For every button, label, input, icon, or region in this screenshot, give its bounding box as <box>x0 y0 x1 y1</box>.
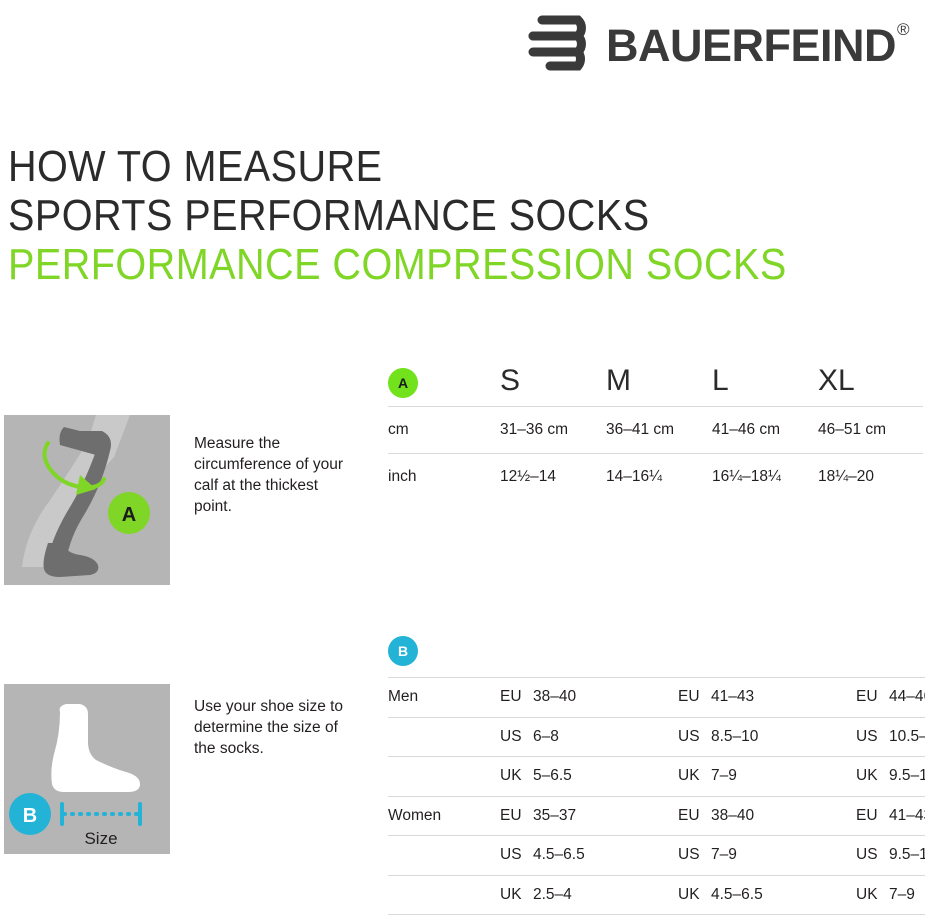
table-a-header-row: A S M L XL <box>388 360 923 407</box>
table-b-badge-row: B <box>388 625 925 678</box>
men-eu-label-3: EU <box>856 678 889 718</box>
men-eu-label-1: EU <box>500 678 533 718</box>
table-row: Women EU 35–37 EU 38–40 EU 41–43 <box>388 796 925 836</box>
women-eu-label-1: EU <box>500 796 533 836</box>
men-uk-label-2: UK <box>678 757 711 797</box>
shoe-size-table-block: B Men EU 38–40 EU 41–43 EU 44–46 US 6–8 … <box>388 625 923 915</box>
women-us-value-1: 4.5–6.5 <box>533 836 678 876</box>
registered-trademark-icon: ® <box>897 20 909 39</box>
illustration-foot-with-size-ruler: B Size <box>4 684 170 854</box>
calf-circumference-table-block: A S M L XL cm 31–36 cm 36–41 cm 41–46 cm… <box>388 360 923 500</box>
women-eu-value-2: 38–40 <box>711 796 856 836</box>
table-a-inch-s: 12½–14 <box>500 454 606 501</box>
shoe-size-table: B Men EU 38–40 EU 41–43 EU 44–46 US 6–8 … <box>388 625 925 915</box>
women-uk-label-2: UK <box>678 875 711 915</box>
men-eu-value-3: 44–46 <box>889 678 925 718</box>
men-us-value-3: 10.5–12 <box>889 717 925 757</box>
table-a-inch-m: 14–16¼ <box>606 454 712 501</box>
table-b-spacer <box>388 757 500 797</box>
table-b-spacer <box>388 717 500 757</box>
women-us-value-3: 9.5–11 <box>889 836 925 876</box>
table-a-cm-m: 36–41 cm <box>606 407 712 454</box>
women-uk-label-1: UK <box>500 875 533 915</box>
table-a-unit-inch: inch <box>388 454 500 501</box>
headline-line-1: HOW TO MEASURE <box>8 142 728 191</box>
table-b-group-women: Women <box>388 796 500 836</box>
men-eu-value-1: 38–40 <box>533 678 678 718</box>
women-us-value-2: 7–9 <box>711 836 856 876</box>
table-row: cm 31–36 cm 36–41 cm 41–46 cm 46–51 cm <box>388 407 923 454</box>
table-a-cm-s: 31–36 cm <box>500 407 606 454</box>
headline-line-2: SPORTS PERFORMANCE SOCKS <box>8 191 728 240</box>
table-row: inch 12½–14 14–16¼ 16¼–18¼ 18¼–20 <box>388 454 923 501</box>
women-eu-value-3: 41–43 <box>889 796 925 836</box>
badge-b: B <box>388 636 418 666</box>
table-a-cm-l: 41–46 cm <box>712 407 818 454</box>
svg-text:A: A <box>122 504 136 526</box>
women-eu-label-2: EU <box>678 796 711 836</box>
table-row: UK 2.5–4 UK 4.5–6.5 UK 7–9 <box>388 875 925 915</box>
women-eu-value-1: 35–37 <box>533 796 678 836</box>
table-b-spacer <box>388 836 500 876</box>
table-a-inch-xl: 18¼–20 <box>818 454 923 501</box>
women-uk-label-3: UK <box>856 875 889 915</box>
table-a-size-m: M <box>606 360 712 407</box>
table-a-badge-cell: A <box>388 360 500 407</box>
table-row: UK 5–6.5 UK 7–9 UK 9.5–11.5 <box>388 757 925 797</box>
women-uk-value-3: 7–9 <box>889 875 925 915</box>
table-row: US 6–8 US 8.5–10 US 10.5–12 <box>388 717 925 757</box>
women-us-label-1: US <box>500 836 533 876</box>
table-b-badge-cell: B <box>388 625 925 678</box>
step-b-description: Use your shoe size to determine the size… <box>194 696 359 759</box>
women-uk-value-2: 4.5–6.5 <box>711 875 856 915</box>
table-a-unit-cm: cm <box>388 407 500 454</box>
badge-a: A <box>388 368 418 398</box>
page-title: HOW TO MEASURE SPORTS PERFORMANCE SOCKS … <box>8 142 808 289</box>
table-a-size-s: S <box>500 360 606 407</box>
men-uk-value-3: 9.5–11.5 <box>889 757 925 797</box>
men-uk-value-2: 7–9 <box>711 757 856 797</box>
men-us-value-2: 8.5–10 <box>711 717 856 757</box>
table-a-inch-l: 16¼–18¼ <box>712 454 818 501</box>
brand-wordmark: BAUERFEIND <box>606 20 896 71</box>
men-us-value-1: 6–8 <box>533 717 678 757</box>
svg-text:B: B <box>23 805 37 827</box>
men-us-label-2: US <box>678 717 711 757</box>
svg-text:Size: Size <box>84 829 117 848</box>
step-a-description: Measure the circumference of your calf a… <box>194 433 359 517</box>
men-uk-label-1: UK <box>500 757 533 797</box>
brand-name: BAUERFEIND® <box>606 23 908 68</box>
women-us-label-2: US <box>678 836 711 876</box>
table-b-spacer <box>388 875 500 915</box>
illustration-leg-with-compression-sock: A <box>4 415 170 585</box>
table-row: US 4.5–6.5 US 7–9 US 9.5–11 <box>388 836 925 876</box>
men-eu-label-2: EU <box>678 678 711 718</box>
table-row: Men EU 38–40 EU 41–43 EU 44–46 <box>388 678 925 718</box>
men-uk-value-1: 5–6.5 <box>533 757 678 797</box>
brand-logo: BAUERFEIND® <box>528 12 920 74</box>
women-uk-value-1: 2.5–4 <box>533 875 678 915</box>
men-us-label-1: US <box>500 717 533 757</box>
women-eu-label-3: EU <box>856 796 889 836</box>
men-uk-label-3: UK <box>856 757 889 797</box>
women-us-label-3: US <box>856 836 889 876</box>
men-us-label-3: US <box>856 717 889 757</box>
table-b-group-men: Men <box>388 678 500 718</box>
headline-line-3: PERFORMANCE COMPRESSION SOCKS <box>8 240 728 289</box>
calf-circumference-table: A S M L XL cm 31–36 cm 36–41 cm 41–46 cm… <box>388 360 923 500</box>
bauerfeind-b-mark-icon <box>528 14 600 72</box>
men-eu-value-2: 41–43 <box>711 678 856 718</box>
table-a-size-xl: XL <box>818 360 923 407</box>
table-a-size-l: L <box>712 360 818 407</box>
table-a-cm-xl: 46–51 cm <box>818 407 923 454</box>
